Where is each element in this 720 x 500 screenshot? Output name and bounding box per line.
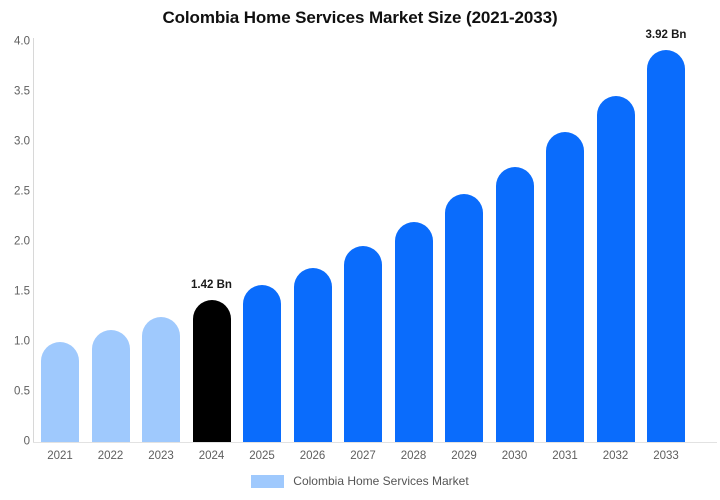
bar-2026[interactable]: [294, 268, 332, 442]
bar-2025[interactable]: [243, 285, 281, 442]
bar-2031[interactable]: [546, 132, 584, 442]
market-size-bar-chart: Colombia Home Services Market Size (2021…: [0, 0, 720, 500]
bar-2022[interactable]: [92, 330, 130, 442]
bar-2028[interactable]: [395, 222, 433, 442]
legend-label-colombia-home-services-market: Colombia Home Services Market: [293, 474, 468, 488]
bar-value-label-2033: 3.92 Bn: [646, 29, 687, 41]
bar-2023[interactable]: [142, 317, 180, 442]
legend-swatch-colombia-home-services-market: [251, 475, 284, 488]
bar-2027[interactable]: [344, 246, 382, 442]
bar-2032[interactable]: [597, 96, 635, 442]
chart-legend: Colombia Home Services Market: [0, 474, 720, 488]
bar-2030[interactable]: [496, 167, 534, 442]
x-axis-tick-2033: 2033: [636, 450, 696, 462]
bar-2029[interactable]: [445, 194, 483, 442]
bars-layer: 20212022202320241.42 Bn20252026202720282…: [0, 0, 720, 500]
bar-value-label-2024: 1.42 Bn: [191, 279, 232, 291]
bar-2021[interactable]: [41, 342, 79, 442]
bar-2033[interactable]: [647, 50, 685, 442]
bar-2024[interactable]: [193, 300, 231, 442]
